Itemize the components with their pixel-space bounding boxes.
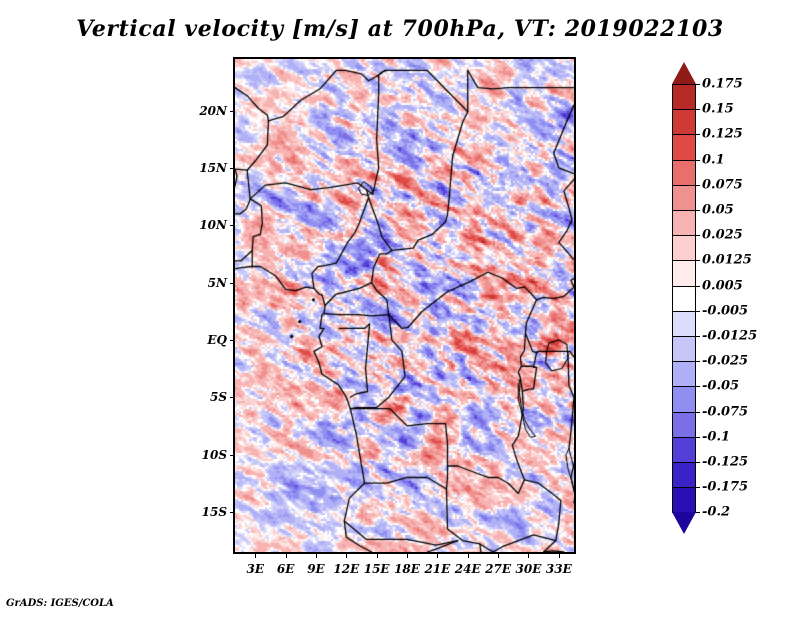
colorbar-tick [696, 160, 700, 161]
x-axis-tick [498, 553, 499, 558]
x-axis-tick [468, 553, 469, 558]
colorbar-tick [696, 386, 700, 387]
y-axis-tick [230, 340, 235, 341]
colorbar-tick [696, 260, 700, 261]
x-axis-label: 21E [424, 562, 450, 576]
colorbar-label: 0.05 [702, 203, 734, 218]
colorbar-tick [696, 84, 700, 85]
x-axis-label: 3E [246, 562, 264, 576]
x-axis-label: 12E [333, 562, 359, 576]
y-axis-label: 10S [189, 448, 227, 462]
colorbar-tick [696, 210, 700, 211]
y-axis-tick [230, 512, 235, 513]
footer-credit: GrADS: IGES/COLA [6, 598, 114, 609]
colorbar-segment [672, 134, 696, 160]
colorbar-tick [696, 134, 700, 135]
colorbar-segment [672, 260, 696, 286]
x-axis-tick [255, 553, 256, 558]
colorbar-segment [672, 437, 696, 463]
colorbar-segment [672, 160, 696, 186]
colorbar-segment [672, 386, 696, 412]
colorbar-tick [696, 361, 700, 362]
y-axis-label: 5S [189, 390, 227, 404]
colorbar-tick [696, 286, 700, 287]
x-axis-label: 30E [516, 562, 542, 576]
colorbar-segment [672, 286, 696, 312]
y-axis-label: 5N [189, 276, 227, 290]
y-axis-tick [230, 225, 235, 226]
colorbar-label: -0.125 [702, 455, 748, 470]
x-axis-label: 24E [455, 562, 481, 576]
y-axis-tick [230, 283, 235, 284]
colorbar-label: 0.175 [702, 77, 743, 92]
y-axis-label: 20N [189, 104, 227, 118]
x-axis-tick [407, 553, 408, 558]
colorbar-segment [672, 235, 696, 261]
colorbar-bottom-arrow [672, 512, 696, 534]
x-axis-label: 18E [394, 562, 420, 576]
colorbar-label: 0.1 [702, 152, 725, 167]
colorbar-label: -0.2 [702, 505, 730, 520]
colorbar-label: -0.0125 [702, 329, 757, 344]
colorbar-tick [696, 437, 700, 438]
x-axis-tick [316, 553, 317, 558]
colorbar-tick [696, 185, 700, 186]
colorbar-label: 0.15 [702, 102, 734, 117]
x-axis-tick [346, 553, 347, 558]
colorbar-tick [696, 311, 700, 312]
x-axis-label: 33E [546, 562, 572, 576]
colorbar-label: -0.025 [702, 354, 748, 369]
colorbar-segment [672, 84, 696, 110]
x-axis-label: 6E [277, 562, 295, 576]
y-axis-tick [230, 455, 235, 456]
colorbar-segment [672, 311, 696, 337]
colorbar-tick [696, 235, 700, 236]
colorbar-tick [696, 412, 700, 413]
x-axis-tick [528, 553, 529, 558]
x-axis-label: 9E [307, 562, 325, 576]
x-axis-tick [377, 553, 378, 558]
colorbar-tick [696, 109, 700, 110]
colorbar-label: 0.0125 [702, 253, 752, 268]
colorbar-segment [672, 336, 696, 362]
x-axis-tick [286, 553, 287, 558]
y-axis-label: 15S [189, 505, 227, 519]
colorbar-segment [672, 412, 696, 438]
grads-plot-page: Vertical velocity [m/s] at 700hPa, VT: 2… [0, 0, 800, 618]
colorbar-label: 0.125 [702, 127, 743, 142]
colorbar-label: -0.005 [702, 303, 748, 318]
colorbar: 0.1750.150.1250.10.0750.050.0250.01250.0… [672, 62, 792, 557]
y-axis-label: 15N [189, 161, 227, 175]
colorbar-label: -0.075 [702, 404, 748, 419]
colorbar-segment [672, 361, 696, 387]
colorbar-tick [696, 512, 700, 513]
colorbar-label: -0.175 [702, 480, 748, 495]
y-axis-label: 10N [189, 218, 227, 232]
map-plot-area [233, 57, 576, 554]
colorbar-segment [672, 210, 696, 236]
y-axis-tick [230, 397, 235, 398]
colorbar-tick [696, 336, 700, 337]
x-axis-tick [437, 553, 438, 558]
colorbar-segment [672, 109, 696, 135]
page-title: Vertical velocity [m/s] at 700hPa, VT: 2… [0, 16, 800, 42]
colorbar-top-arrow [672, 62, 696, 84]
colorbar-tick [696, 487, 700, 488]
x-axis-tick [559, 553, 560, 558]
colorbar-segment [672, 487, 696, 513]
x-axis-label: 15E [364, 562, 390, 576]
colorbar-label: -0.1 [702, 429, 730, 444]
y-axis-label: EQ [189, 333, 227, 347]
colorbar-segment [672, 185, 696, 211]
x-axis-label: 27E [485, 562, 511, 576]
colorbar-tick [696, 462, 700, 463]
colorbar-label: -0.05 [702, 379, 739, 394]
colorbar-label: 0.075 [702, 177, 743, 192]
y-axis-tick [230, 111, 235, 112]
y-axis-tick [230, 168, 235, 169]
colorbar-segment [672, 462, 696, 488]
vertical-velocity-field [235, 59, 574, 552]
colorbar-label: 0.025 [702, 228, 743, 243]
colorbar-label: 0.005 [702, 278, 743, 293]
